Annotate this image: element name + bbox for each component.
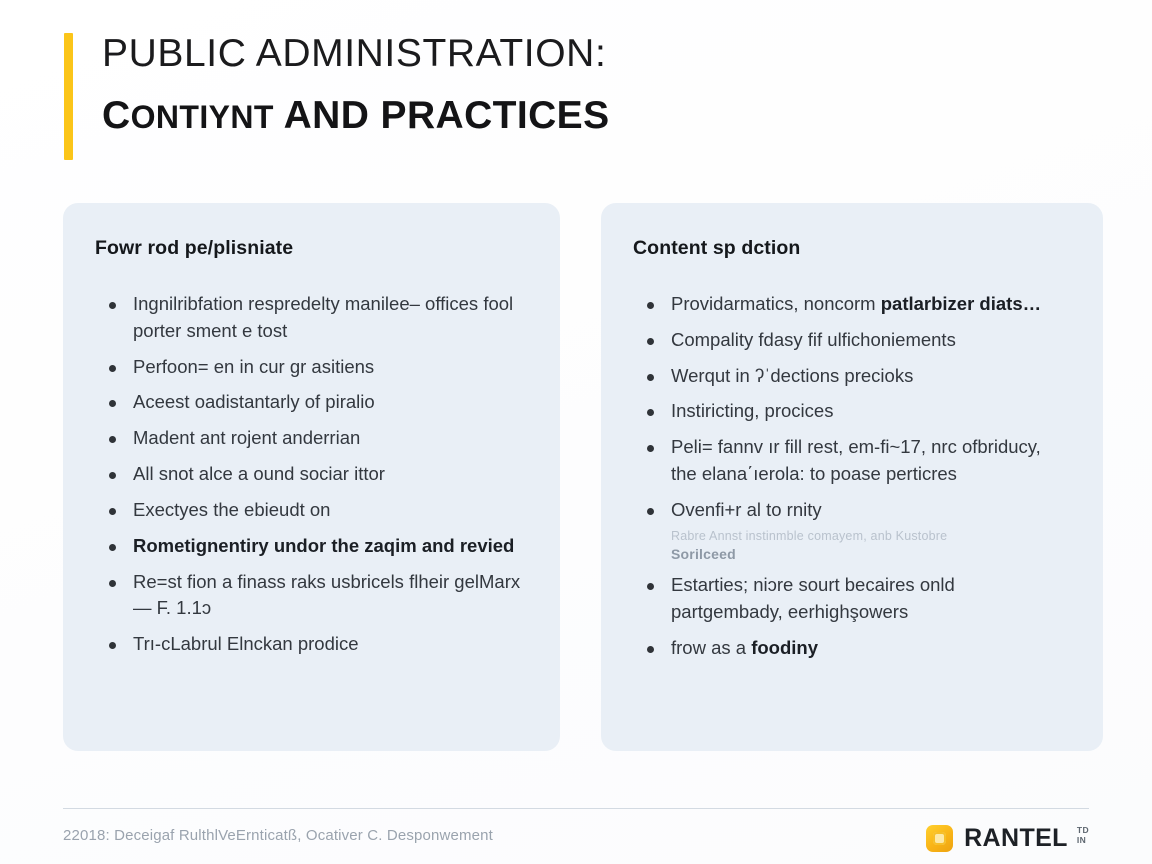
- list-item: Providarmatics, noncorm patlarbizer diat…: [633, 291, 1071, 318]
- title-text-group: PUBLIC ADMINISTRATION: CONTIYNT AND PRAC…: [102, 33, 610, 135]
- brand-suffix: TD IN: [1077, 826, 1089, 851]
- brand-logo: RANTEL TD IN: [926, 824, 1089, 853]
- footer-note-text: 22018: Deceigaf RulthlVeErnticatß, Ocati…: [63, 824, 493, 844]
- list-item: Peli= fannv ır fill rest, em-fi~17, nrc …: [633, 434, 1071, 488]
- list-item: Estarties; niɔre sourt becaires onld par…: [633, 572, 1071, 626]
- list-item: Compality fdasy fif ulfichoniements: [633, 327, 1071, 354]
- right-card-bullet-list: Providarmatics, noncorm patlarbizer diat…: [633, 291, 1071, 662]
- list-item: Rometignentiry undor the zaqim and revie…: [95, 533, 528, 560]
- page-title-line-1: PUBLIC ADMINISTRATION:: [102, 34, 610, 73]
- right-content-card: Content sp dction Providarmatics, noncor…: [601, 203, 1103, 751]
- left-card-bullet-list: Ingnilribfation respredelty manilee– off…: [95, 291, 528, 658]
- list-item-emphasis: patlarbizer diats…: [881, 293, 1041, 314]
- list-item-text: frow as a: [671, 637, 751, 658]
- list-item: Werqut in ʔˈdections precioks: [633, 363, 1071, 390]
- brand-name-text: RANTEL: [964, 824, 1068, 853]
- ghost-subtext-strong: Sorilceed: [671, 545, 1071, 564]
- slide-footer: 22018: Deceigaf RulthlVeErnticatß, Ocati…: [63, 824, 1089, 864]
- slide-title-block: PUBLIC ADMINISTRATION: CONTIYNT AND PRAC…: [64, 33, 1084, 161]
- left-card-heading: Fowr rod pe/plisniate: [95, 237, 528, 260]
- brand-suffix-line-2: IN: [1077, 836, 1089, 846]
- list-item: Perfoon= en in cur gr asitiens: [95, 354, 528, 381]
- page-title-line-2: CONTIYNT AND PRACTICES: [102, 96, 610, 135]
- list-item: Re=st fion a finass raks usbricels flhei…: [95, 569, 528, 623]
- list-item: frow as a foodiny: [633, 635, 1071, 662]
- slide-canvas: PUBLIC ADMINISTRATION: CONTIYNT AND PRAC…: [0, 0, 1152, 864]
- list-item: Exectyes the ebieudt on: [95, 497, 528, 524]
- right-card-heading: Content sp dction: [633, 237, 1071, 260]
- list-item: Instiricting, procices: [633, 398, 1071, 425]
- brand-logo-icon: [926, 825, 953, 852]
- list-item-emphasis: foodiny: [751, 637, 818, 658]
- list-item: Madent ant rojent anderrian: [95, 425, 528, 452]
- ghost-subtext-line: Rabre Annst instinmble comayem, anb Kust…: [671, 529, 947, 543]
- ghost-subtext: Rabre Annst instinmble comayem, anb Kust…: [671, 528, 1071, 564]
- list-item: All snot alce a ound sociar ittor: [95, 461, 528, 488]
- list-item: Ovenfi+r al to rnityRabre Annst instinmb…: [633, 497, 1071, 564]
- content-cards-row: Fowr rod pe/plisniate Ingnilribfation re…: [63, 203, 1103, 751]
- footer-divider: [63, 808, 1089, 809]
- list-item: Ingnilribfation respredelty manilee– off…: [95, 291, 528, 345]
- list-item-text: Providarmatics, noncorm: [671, 293, 881, 314]
- list-item-text: Ovenfi+r al to rnity: [671, 499, 822, 520]
- title-accent-bar: [64, 33, 73, 160]
- title-line-2-rest: AND PRACTICES: [274, 94, 610, 137]
- title-dropcap: C: [102, 94, 131, 137]
- title-smallcaps-word: ONTIYNT: [131, 99, 274, 135]
- list-item: Trı-cLabrul Elnckan prodice: [95, 631, 528, 658]
- list-item: Aceest oadistantarly of piralio: [95, 389, 528, 416]
- left-content-card: Fowr rod pe/plisniate Ingnilribfation re…: [63, 203, 560, 751]
